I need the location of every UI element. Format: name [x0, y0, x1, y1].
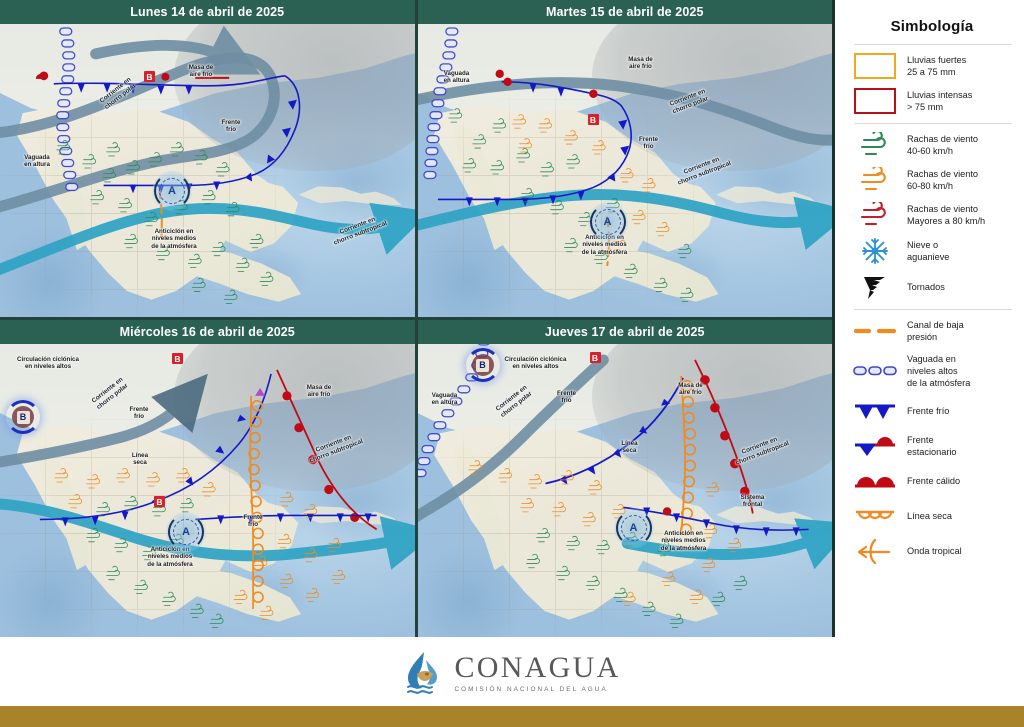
map-canvas-thursday: B B A Circulación ciclónica en niveles a…	[418, 344, 833, 637]
map-panel-thursday[interactable]: Jueves 17 de abril de 2025	[418, 320, 833, 637]
legend-label: Frente estacionario	[907, 434, 957, 458]
warm-front-icon	[852, 472, 898, 490]
label-cold-air-mass: Masa de aire frío	[296, 384, 342, 399]
anticyclone-symbol: A	[152, 171, 192, 211]
legend-title: Simbología	[850, 18, 1014, 35]
label-cold-front-2: Frente frío	[236, 514, 270, 529]
rain-heavy-box-icon	[852, 53, 898, 79]
anticyclone-symbol: A	[614, 508, 654, 548]
map-canvas-tuesday: B A Masa de aire frío Frente frío Vaguad…	[418, 24, 833, 317]
weather-forecast-infographic: Lunes 14 de abril de 2025	[0, 0, 1024, 727]
legend-label: Rachas de viento Mayores a 80 km/h	[907, 203, 985, 227]
tropical-wave-icon	[852, 538, 898, 564]
label-cold-front: Frente frío	[214, 119, 248, 134]
legend-item-warm-front[interactable]: Frente cálido	[852, 468, 1014, 494]
legend-label: Onda tropical	[907, 545, 962, 557]
wind-gust-orange-icon	[852, 167, 898, 193]
map-panel-wednesday[interactable]: Miércoles 16 de abril de 2025	[0, 320, 415, 637]
anticyclone-label: A	[168, 185, 176, 197]
legend-item-tornado[interactable]: Tornados	[852, 274, 1014, 300]
label-cold-air-mass: Masa de aire frío	[178, 64, 224, 79]
legend-item-wind-over-80[interactable]: Rachas de viento Mayores a 80 km/h	[852, 202, 1014, 228]
legend-item-cold-front[interactable]: Frente frío	[852, 398, 1014, 424]
label-cold-front: Frente frío	[632, 136, 666, 151]
legend-label: Canal de baja presión	[907, 319, 964, 343]
legend-item-tropical-wave[interactable]: Onda tropical	[852, 538, 1014, 564]
legend-label: Lluvias fuertes 25 a 75 mm	[907, 54, 966, 78]
label-cold-front: Frente frío	[122, 406, 156, 421]
legend-divider-top	[854, 44, 1012, 45]
label-dry-line: Línea seca	[614, 440, 646, 455]
wind-gust-red-icon	[852, 202, 898, 228]
label-cold-air-mass: Masa de aire frío	[618, 56, 664, 71]
maps-grid: Lunes 14 de abril de 2025	[0, 0, 832, 637]
legend-item-wind-40-60[interactable]: Rachas de viento 40-60 km/h	[852, 132, 1014, 158]
anticyclone-symbol: A	[166, 512, 206, 552]
label-upper-level-trough: Vaguada en altura	[14, 154, 60, 169]
footer: CONAGUA COMISIÓN NACIONAL DEL AGUA	[0, 637, 1024, 727]
legend-label: Frente cálido	[907, 475, 960, 487]
legend-panel: Simbología Lluvias fuertes 25 a 75 mm Ll…	[838, 0, 1024, 637]
tornado-icon	[852, 274, 898, 300]
anticyclone-symbol: A	[588, 202, 628, 242]
legend-item-snow-sleet[interactable]: Nieve o aguanieve	[852, 237, 1014, 265]
low-pressure-marker-3: B	[154, 496, 165, 507]
conagua-water-logo-icon	[403, 650, 445, 696]
legend-item-stationary-front[interactable]: Frente estacionario	[852, 433, 1014, 459]
conagua-logo-subtitle: COMISIÓN NACIONAL DEL AGUA	[454, 686, 620, 693]
legend-label: Tornados	[907, 281, 945, 293]
label-cyclonic-circulation: Circulación ciclónica en niveles altos	[490, 356, 582, 371]
label-upper-level-trough: Vaguada en altura	[434, 70, 480, 85]
legend-item-low-pressure-channel[interactable]: Canal de baja presión	[852, 318, 1014, 344]
anticyclone-label: A	[182, 526, 190, 538]
rain-intense-box-icon	[852, 88, 898, 114]
label-dry-line: Línea seca	[124, 452, 156, 467]
legend-divider-2	[854, 309, 1012, 310]
cyclone-label: B	[17, 411, 30, 424]
conagua-logo-text: CONAGUA COMISIÓN NACIONAL DEL AGUA	[454, 653, 620, 693]
low-pressure-marker-2: B	[172, 353, 183, 364]
upper-level-trough-icon	[852, 364, 898, 378]
legend-divider-1	[854, 123, 1012, 124]
label-cold-air-mass: Masa de aire frío	[668, 382, 714, 397]
panel-title-tuesday: Martes 15 de abril de 2025	[418, 0, 833, 24]
legend-label: Línea seca	[907, 510, 952, 522]
legend-item-wind-60-80[interactable]: Rachas de viento 60-80 km/h	[852, 167, 1014, 193]
snow-sleet-icon	[852, 237, 898, 265]
label-cold-front: Frente frío	[550, 390, 584, 405]
legend-item-upper-level-trough[interactable]: Vaguada en niveles altos de la atmósfera	[852, 353, 1014, 389]
low-pressure-channel-icon	[852, 325, 898, 337]
conagua-logo-name: CONAGUA	[454, 653, 620, 683]
legend-item-rain-intense[interactable]: Lluvias intensas > 75 mm	[852, 88, 1014, 114]
panel-title-monday: Lunes 14 de abril de 2025	[0, 0, 415, 24]
anticyclone-label: A	[630, 522, 638, 534]
cold-front-icon	[852, 402, 898, 420]
anticyclone-label: A	[604, 216, 612, 228]
legend-label: Lluvias intensas > 75 mm	[907, 89, 972, 113]
stationary-front-icon	[852, 435, 898, 457]
cyclonic-circulation-symbol: B	[6, 400, 40, 434]
low-pressure-marker: B	[588, 114, 599, 125]
dry-line-icon	[852, 508, 898, 524]
low-pressure-marker-2: B	[590, 352, 601, 363]
cyclone-label: B	[476, 359, 489, 372]
panel-divider	[832, 0, 835, 637]
low-pressure-marker: B	[144, 71, 155, 82]
legend-item-dry-line[interactable]: Línea seca	[852, 503, 1014, 529]
label-upper-level-trough: Vaguada en altura	[422, 392, 468, 407]
label-anticyclone: Anticiclón en niveles medios de la atmós…	[140, 228, 208, 250]
conagua-logo: CONAGUA COMISIÓN NACIONAL DEL AGUA	[0, 645, 1024, 701]
map-panel-monday[interactable]: Lunes 14 de abril de 2025	[0, 0, 415, 317]
legend-label: Frente frío	[907, 405, 949, 417]
wind-gust-green-icon	[852, 132, 898, 158]
legend-label: Nieve o aguanieve	[907, 239, 949, 263]
footer-gold-bar	[0, 706, 1024, 727]
legend-item-rain-heavy[interactable]: Lluvias fuertes 25 a 75 mm	[852, 53, 1014, 79]
label-frontal-system: Sistema frontal	[734, 494, 772, 509]
panel-title-wednesday: Miércoles 16 de abril de 2025	[0, 320, 415, 344]
label-anticyclone: Anticiclón en niveles medios de la atmós…	[650, 530, 718, 552]
legend-label: Rachas de viento 60-80 km/h	[907, 168, 978, 192]
map-canvas-wednesday: B B B A Circulación ciclónica en niveles…	[0, 344, 415, 637]
legend-label: Vaguada en niveles altos de la atmósfera	[907, 353, 970, 389]
map-canvas-monday: B A Masa de aire frío Frente frío Vaguad…	[0, 24, 415, 317]
panel-title-thursday: Jueves 17 de abril de 2025	[418, 320, 833, 344]
legend-label: Rachas de viento 40-60 km/h	[907, 133, 978, 157]
label-cyclonic-circulation: Circulación ciclónica en niveles altos	[2, 356, 94, 371]
map-panel-tuesday[interactable]: Martes 15 de abril de 2025	[418, 0, 833, 317]
cyclonic-circulation-symbol: B	[466, 348, 500, 382]
